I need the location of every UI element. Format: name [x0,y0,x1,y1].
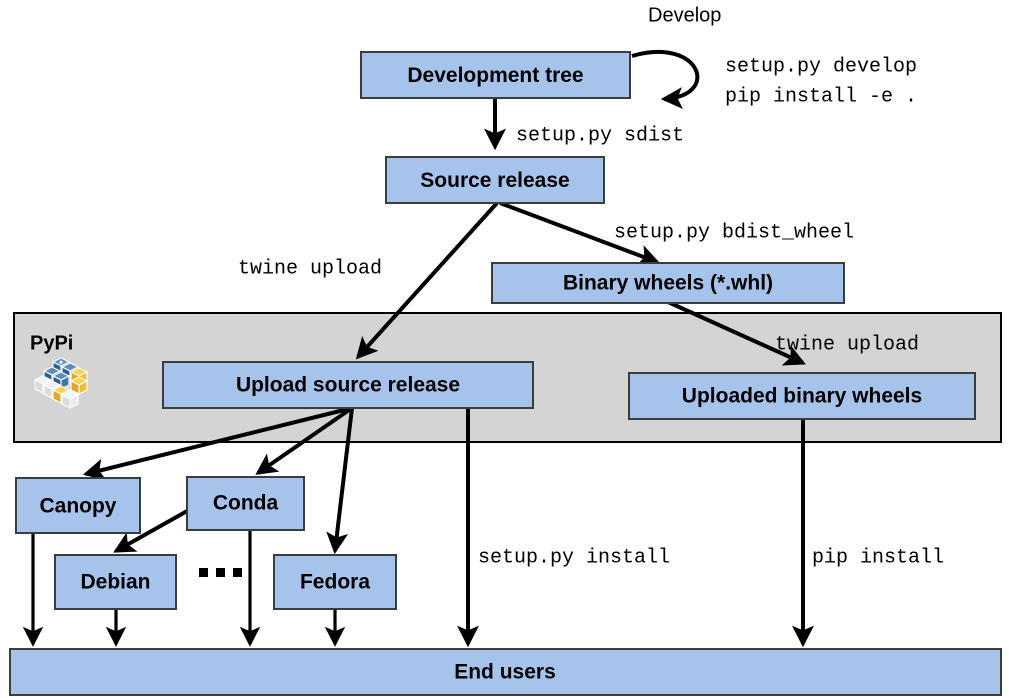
edge-label-develop: Develop [648,4,721,26]
node-binary-wheels-label: Binary wheels (*.whl) [563,272,773,295]
node-development-tree[interactable]: Development tree [361,52,630,98]
node-fedora-label: Fedora [300,571,370,594]
edge-label-pip-install-e: pip install -e . [725,85,917,108]
edge-label-twine-upload-source: twine upload [238,257,382,280]
node-source-release-label: Source release [420,169,569,192]
node-conda[interactable]: Conda [187,477,304,530]
diagram-canvas: PyPi [0,0,1009,698]
node-canopy-label: Canopy [39,495,116,518]
node-end-users[interactable]: End users [10,649,1001,695]
node-upload-source-release-label: Upload source release [236,374,460,397]
node-uploaded-binary-wheels[interactable]: Uploaded binary wheels [629,373,975,419]
node-fedora[interactable]: Fedora [274,555,396,609]
node-end-users-label: End users [454,661,556,684]
pypi-group-label: PyPi [30,332,73,354]
ellipsis-dots-icon [199,568,242,577]
node-conda-label: Conda [213,492,279,515]
edge-label-setup-py-install: setup.py install [478,546,670,569]
node-debian[interactable]: Debian [55,555,176,609]
edge-label-setup-py-bdist-wheel: setup.py bdist_wheel [614,221,854,244]
node-upload-source-release[interactable]: Upload source release [163,362,533,408]
node-source-release[interactable]: Source release [386,157,604,203]
edge-label-setup-py-develop: setup.py develop [725,55,917,78]
edge-label-pip-install: pip install [812,546,944,569]
python-packaging-flow-diagram: PyPi [0,0,1009,698]
edge-develop-selfloop [632,52,697,99]
node-debian-label: Debian [80,571,150,594]
node-canopy[interactable]: Canopy [16,478,140,533]
node-development-tree-label: Development tree [407,64,583,87]
node-binary-wheels[interactable]: Binary wheels (*.whl) [492,263,844,303]
edge-label-twine-upload-wheels: twine upload [775,333,919,356]
edge-label-setup-py-sdist: setup.py sdist [516,124,684,147]
node-uploaded-binary-wheels-label: Uploaded binary wheels [682,385,922,408]
